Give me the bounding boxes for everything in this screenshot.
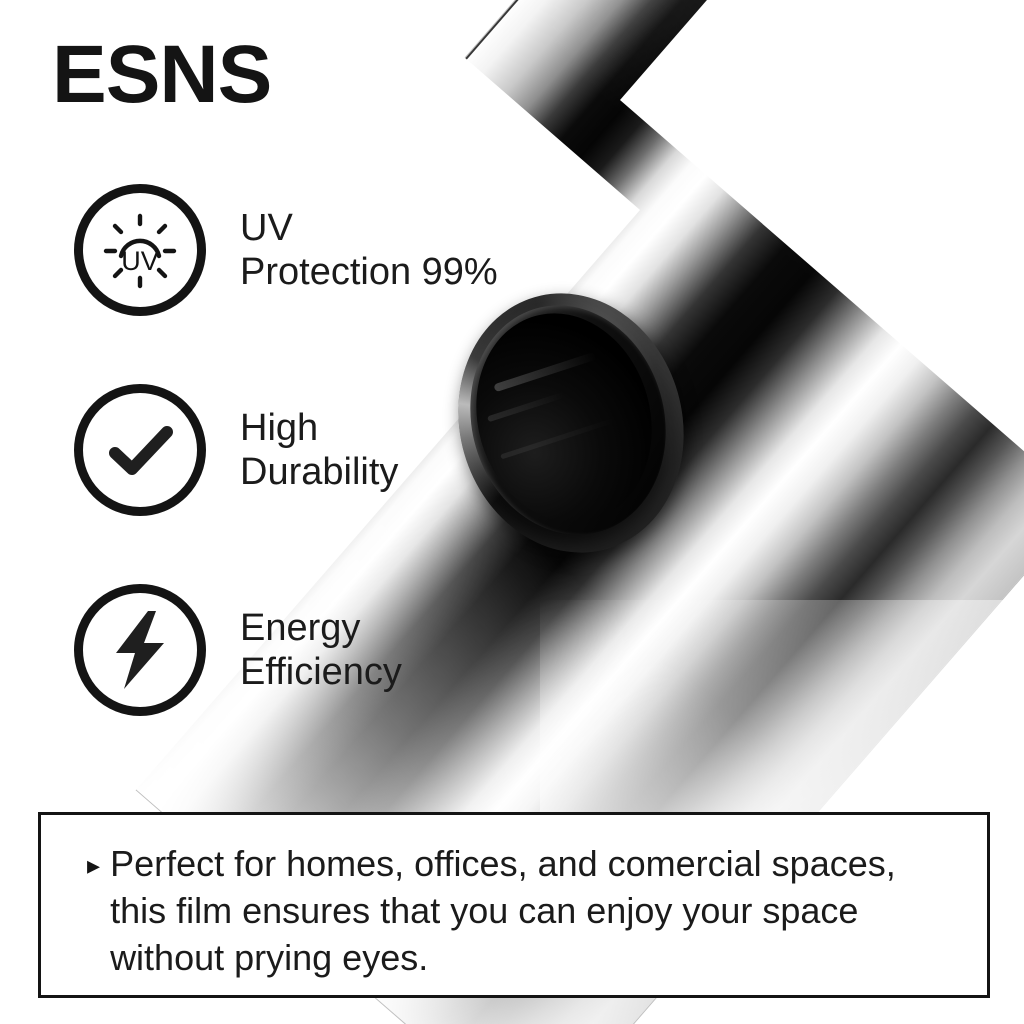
film-roll-core-streak <box>500 418 616 460</box>
bullet-triangle-icon: ▸ <box>87 849 100 882</box>
caption-row: ▸ Perfect for homes, offices, and comerc… <box>87 841 957 981</box>
checkmark-icon <box>74 384 206 516</box>
photo-background-mask-top <box>620 0 1024 690</box>
caption-box: ▸ Perfect for homes, offices, and comerc… <box>38 812 990 998</box>
feature-item-uv-protection: UV UV Protection 99% <box>74 183 514 317</box>
feature-label-energy-efficiency: Energy Efficiency <box>240 606 402 694</box>
feature-label-high-durability: High Durability <box>240 406 398 494</box>
uv-icon-text: UV <box>121 246 159 276</box>
feature-list: UV UV Protection 99% High Durability Ene… <box>74 183 514 783</box>
feature-item-high-durability: High Durability <box>74 383 514 517</box>
caption-text: Perfect for homes, offices, and comercia… <box>110 841 957 981</box>
lightning-bolt-icon <box>74 584 206 716</box>
uv-sun-icon: UV <box>74 184 206 316</box>
brand-logo: ESNS <box>52 34 271 116</box>
feature-item-energy-efficiency: Energy Efficiency <box>74 583 514 717</box>
feature-label-uv-protection: UV Protection 99% <box>240 206 498 294</box>
